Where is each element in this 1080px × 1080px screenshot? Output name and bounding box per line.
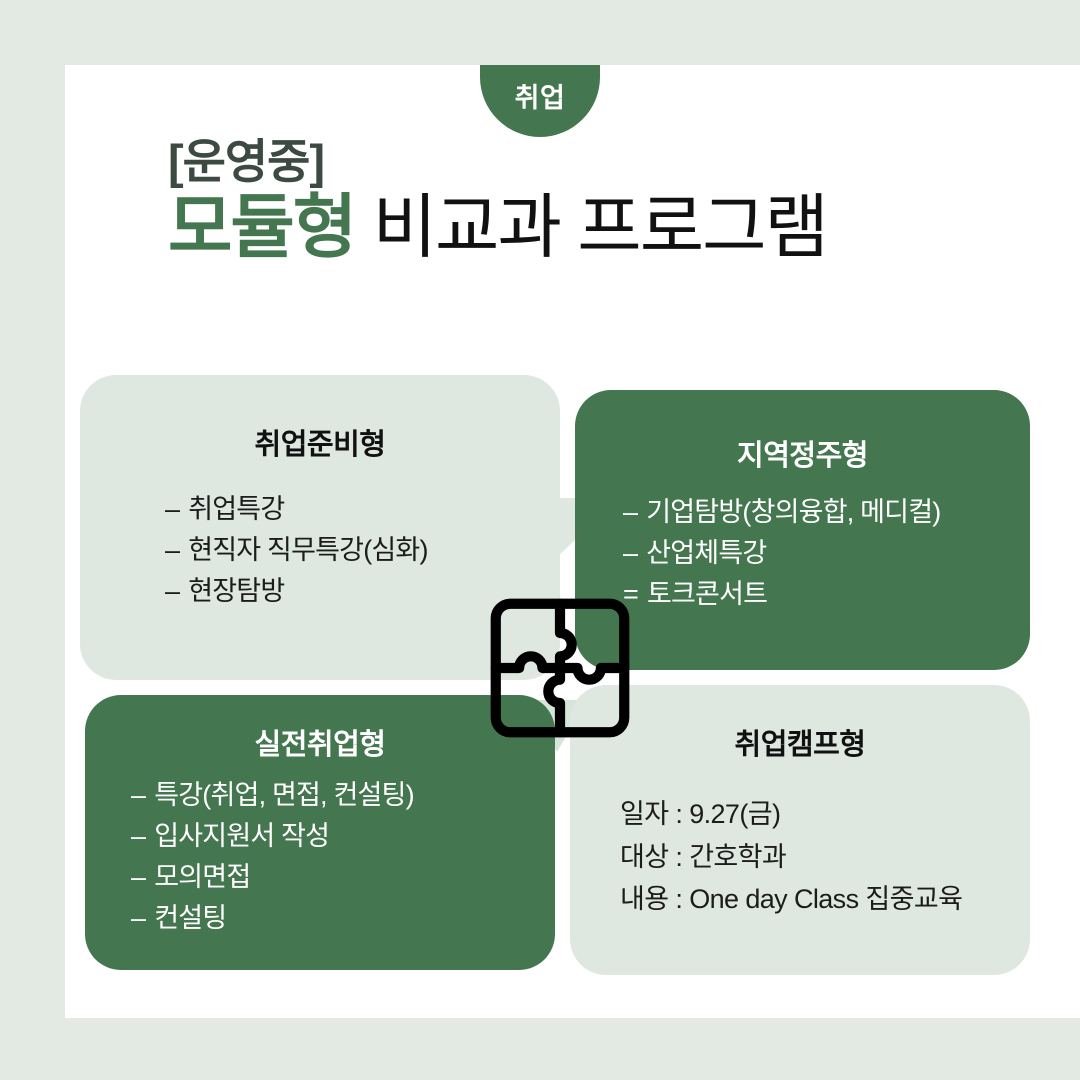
detail-label: 내용 :: [620, 884, 689, 914]
bullet-mark: –: [623, 492, 637, 533]
list-item-label: 컨설팅: [154, 903, 226, 933]
card-item-list: –기업탐방(창의융합, 메디컬)–산업체특강=토크콘서트: [575, 492, 1030, 615]
list-item-label: 현장탐방: [188, 576, 284, 606]
card-local-settlement: 지역정주형 –기업탐방(창의융합, 메디컬)–산업체특강=토크콘서트: [575, 390, 1030, 670]
list-item-label: 취업특강: [188, 494, 284, 524]
bullet-mark: –: [131, 775, 145, 816]
list-item-label: 산업체특강: [646, 538, 766, 568]
card-item-list: –취업특강–현직자 직무특강(심화)–현장탐방: [80, 489, 560, 612]
card-title: 실전취업형: [85, 721, 555, 763]
headline-rest: 비교과 프로그램: [355, 188, 827, 266]
list-item: –특강(취업, 면접, 컨설팅): [131, 775, 555, 816]
headline-accent: 모듈형: [168, 188, 355, 266]
detail-value: 9.27(금): [689, 799, 780, 829]
detail-value: One day Class 집중교육: [689, 884, 962, 914]
detail-row: 대상 : 간호학과: [620, 836, 1030, 879]
puzzle-icon: [487, 595, 633, 741]
card-title: 지역정주형: [575, 432, 1030, 474]
poster-canvas: 취업 [운영중] 모듈형 비교과 프로그램 취업준비형 –취업특강–현직자 직무…: [0, 0, 1080, 1080]
bullet-mark: –: [165, 489, 179, 530]
card-title: 취업캠프형: [570, 721, 1030, 763]
card-employment-camp: 취업캠프형 일자 : 9.27(금)대상 : 간호학과내용 : One day …: [570, 685, 1030, 975]
card-item-list: –특강(취업, 면접, 컨설팅)–입사지원서 작성–모의면접–컨설팅: [85, 775, 555, 939]
list-item-label: 기업탐방(창의융합, 메디컬): [646, 497, 940, 527]
bullet-mark: –: [131, 857, 145, 898]
headline-status: [운영중]: [168, 138, 827, 185]
card-detail-list: 일자 : 9.27(금)대상 : 간호학과내용 : One day Class …: [570, 793, 1030, 921]
list-item-label: 현직자 직무특강(심화): [188, 535, 427, 565]
detail-value: 간호학과: [689, 842, 786, 872]
list-item: –컨설팅: [131, 898, 555, 939]
card-practical-employment: 실전취업형 –특강(취업, 면접, 컨설팅)–입사지원서 작성–모의면접–컨설팅: [85, 695, 555, 970]
bullet-mark: –: [165, 530, 179, 571]
list-item: –산업체특강: [623, 533, 1030, 574]
list-item: –입사지원서 작성: [131, 816, 555, 857]
detail-label: 대상 :: [620, 842, 689, 872]
page-title: 모듈형 비교과 프로그램: [168, 191, 827, 265]
list-item-label: 모의면접: [154, 862, 250, 892]
list-item-label: 토크콘서트: [647, 579, 767, 609]
list-item: –모의면접: [131, 857, 555, 898]
detail-row: 일자 : 9.27(금): [620, 793, 1030, 836]
detail-row: 내용 : One day Class 집중교육: [620, 878, 1030, 921]
list-item: =토크콘서트: [623, 574, 1030, 615]
list-item: –기업탐방(창의융합, 메디컬): [623, 492, 1030, 533]
bullet-mark: –: [165, 571, 179, 612]
detail-label: 일자 :: [620, 799, 689, 829]
category-badge-label: 취업: [515, 85, 566, 118]
bullet-mark: –: [623, 533, 637, 574]
bullet-mark: –: [131, 898, 145, 939]
list-item: –취업특강: [165, 489, 560, 530]
list-item-label: 특강(취업, 면접, 컨설팅): [154, 780, 414, 810]
headline-block: [운영중] 모듈형 비교과 프로그램: [168, 138, 827, 265]
card-title: 취업준비형: [80, 421, 560, 463]
list-item: –현직자 직무특강(심화): [165, 530, 560, 571]
list-item-label: 입사지원서 작성: [154, 821, 329, 851]
bullet-mark: –: [131, 816, 145, 857]
